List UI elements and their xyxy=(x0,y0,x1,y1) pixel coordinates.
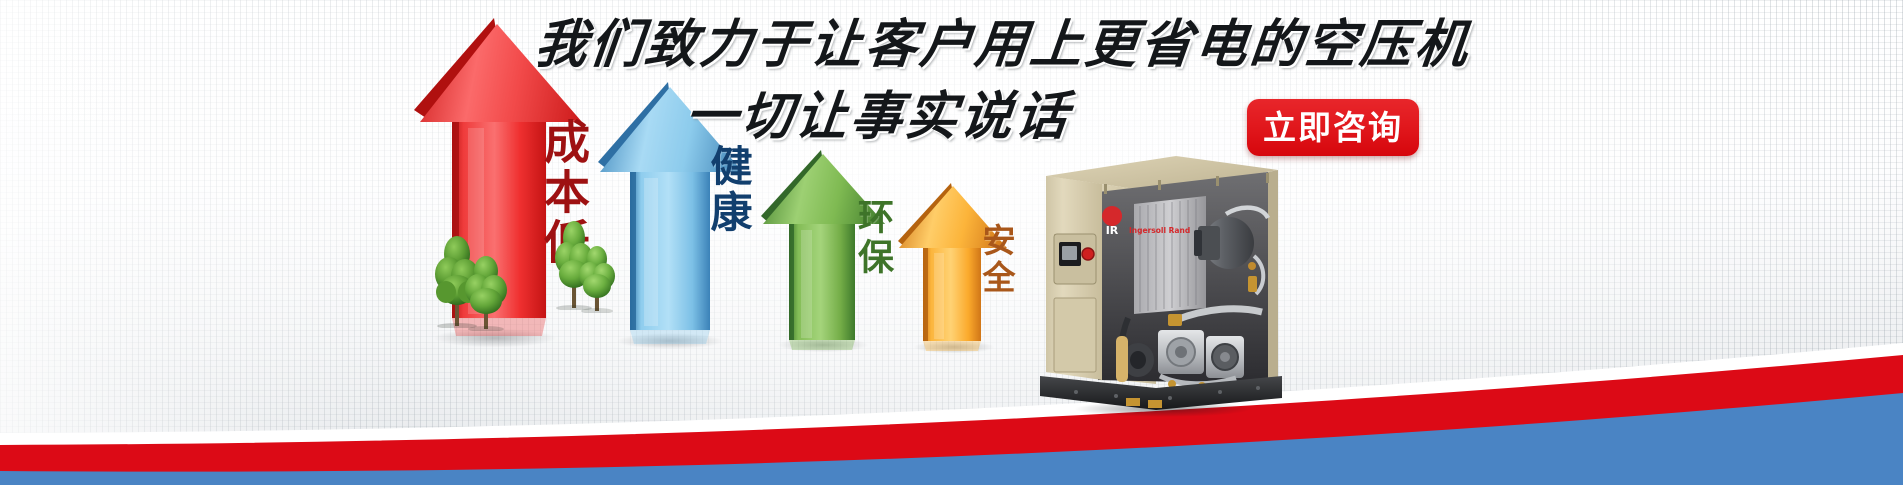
svg-text:IR: IR xyxy=(1106,224,1119,237)
brass-fitting xyxy=(1168,314,1182,326)
svg-text:Ingersoll Rand: Ingersoll Rand xyxy=(1129,226,1190,235)
emergency-stop-button xyxy=(1082,248,1094,260)
tree-middle-short xyxy=(578,243,616,313)
consult-now-label: 立即咨询 xyxy=(1263,111,1403,144)
air-compressor-product-image: IR Ingersoll Rand xyxy=(1030,148,1285,410)
arrow-eco: 环保 xyxy=(755,150,891,350)
filter-canister xyxy=(1116,336,1128,382)
arrow-safety: 安全 xyxy=(893,183,1013,351)
consult-now-button[interactable]: 立即咨询 xyxy=(1247,99,1419,156)
tree-left-short xyxy=(464,253,508,331)
promo-banner: 成本低 xyxy=(0,0,1903,485)
